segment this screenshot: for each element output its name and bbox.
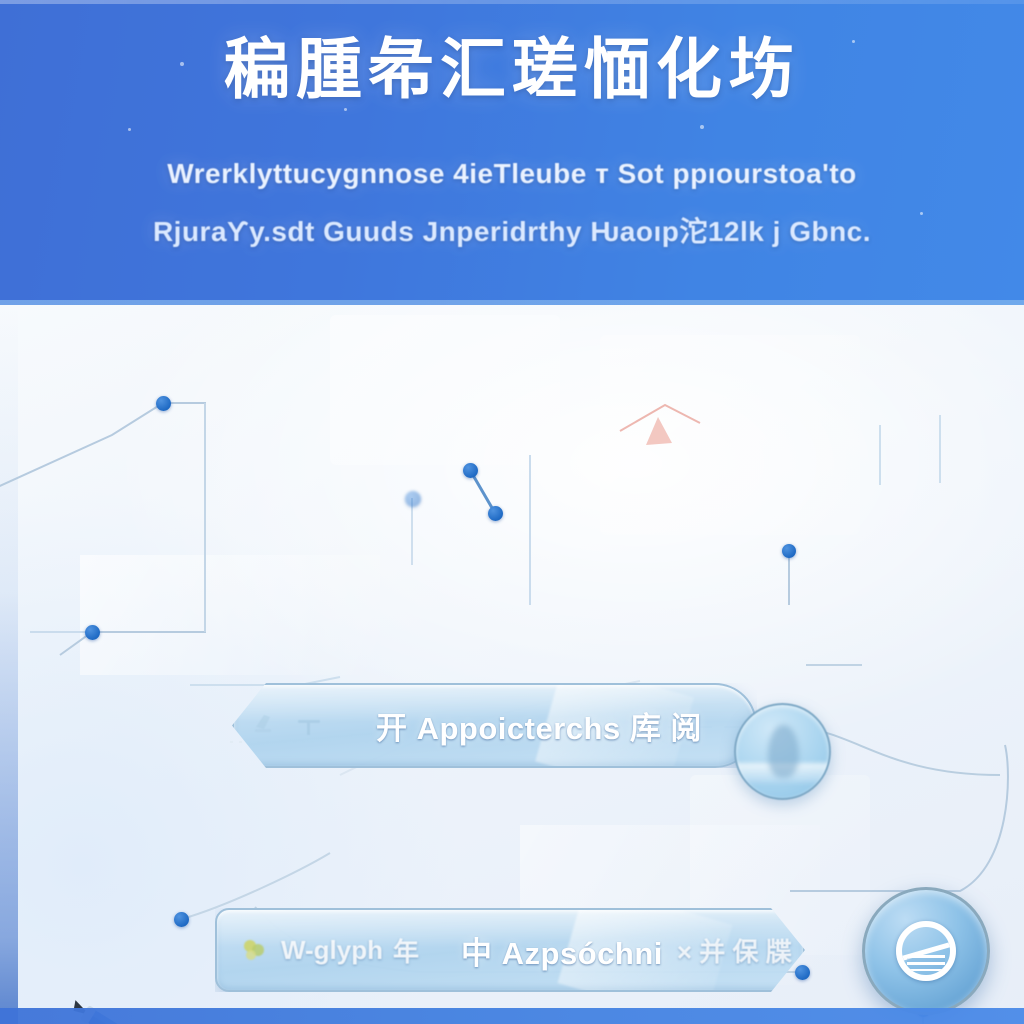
header-subtitle-line-1: Wrerklyttucygnnose 4ieTleube т Sot ppıou… xyxy=(0,158,1024,190)
disc-glyph xyxy=(896,921,956,981)
pill-lead-icons xyxy=(252,711,322,737)
pill-glyph-w: W-glyph xyxy=(281,935,383,966)
diagram-area: 开 Appoicterchs 库 阅 W-glyph 年 中 Azpsóchni… xyxy=(0,305,1024,1024)
pill-approach-trailing-glyphs: × 并 保 牒 xyxy=(677,932,792,969)
leaf-icon xyxy=(241,937,271,963)
accent-arrow xyxy=(620,405,700,445)
sparkle-dot xyxy=(344,108,347,111)
node-dot[interactable] xyxy=(488,506,503,521)
sparkle-dot xyxy=(700,125,704,129)
pill-approach-label: 中 Azpsóchni xyxy=(461,928,663,973)
node-dot[interactable] xyxy=(782,544,796,558)
node-dot[interactable] xyxy=(85,625,100,640)
pill-applications-label: 开 Appoicterchs 库 阅 xyxy=(376,703,702,748)
sparkle-dot xyxy=(128,128,131,131)
page-title: 稨腫㣇汇瑳愐化㘯 xyxy=(0,34,1024,105)
node-dot[interactable] xyxy=(405,491,421,507)
pill-approach[interactable]: W-glyph 年 中 Azpsóchni × 并 保 牒 xyxy=(215,908,805,992)
header-subtitle-line-2: Rjuraϒy.sdt Guuds Jnperidrthy Ƕaoıp沱12lk… xyxy=(0,210,1024,250)
badge-figure-decor xyxy=(768,725,800,777)
pill-glyph-year: 年 xyxy=(393,932,419,969)
node-dot[interactable] xyxy=(156,396,171,411)
table-icon xyxy=(296,711,322,737)
photo-thumbnail-icon[interactable] xyxy=(734,703,831,800)
node-dot[interactable] xyxy=(463,463,478,478)
bottom-edge-bar xyxy=(0,1008,1024,1024)
pill-lead-icons: W-glyph 年 xyxy=(241,932,419,969)
document-disc-icon[interactable] xyxy=(862,887,990,1015)
chair-icon xyxy=(252,711,286,737)
poster-canvas: 稨腫㣇汇瑳愐化㘯 Wrerklyttucygnnose 4ieTleube т … xyxy=(0,0,1024,1024)
node-dot[interactable] xyxy=(795,965,810,980)
pill-applications[interactable]: 开 Appoicterchs 库 阅 xyxy=(232,683,757,768)
node-dot[interactable] xyxy=(174,912,189,927)
header-banner: 稨腫㣇汇瑳愐化㘯 Wrerklyttucygnnose 4ieTleube т … xyxy=(0,0,1024,305)
